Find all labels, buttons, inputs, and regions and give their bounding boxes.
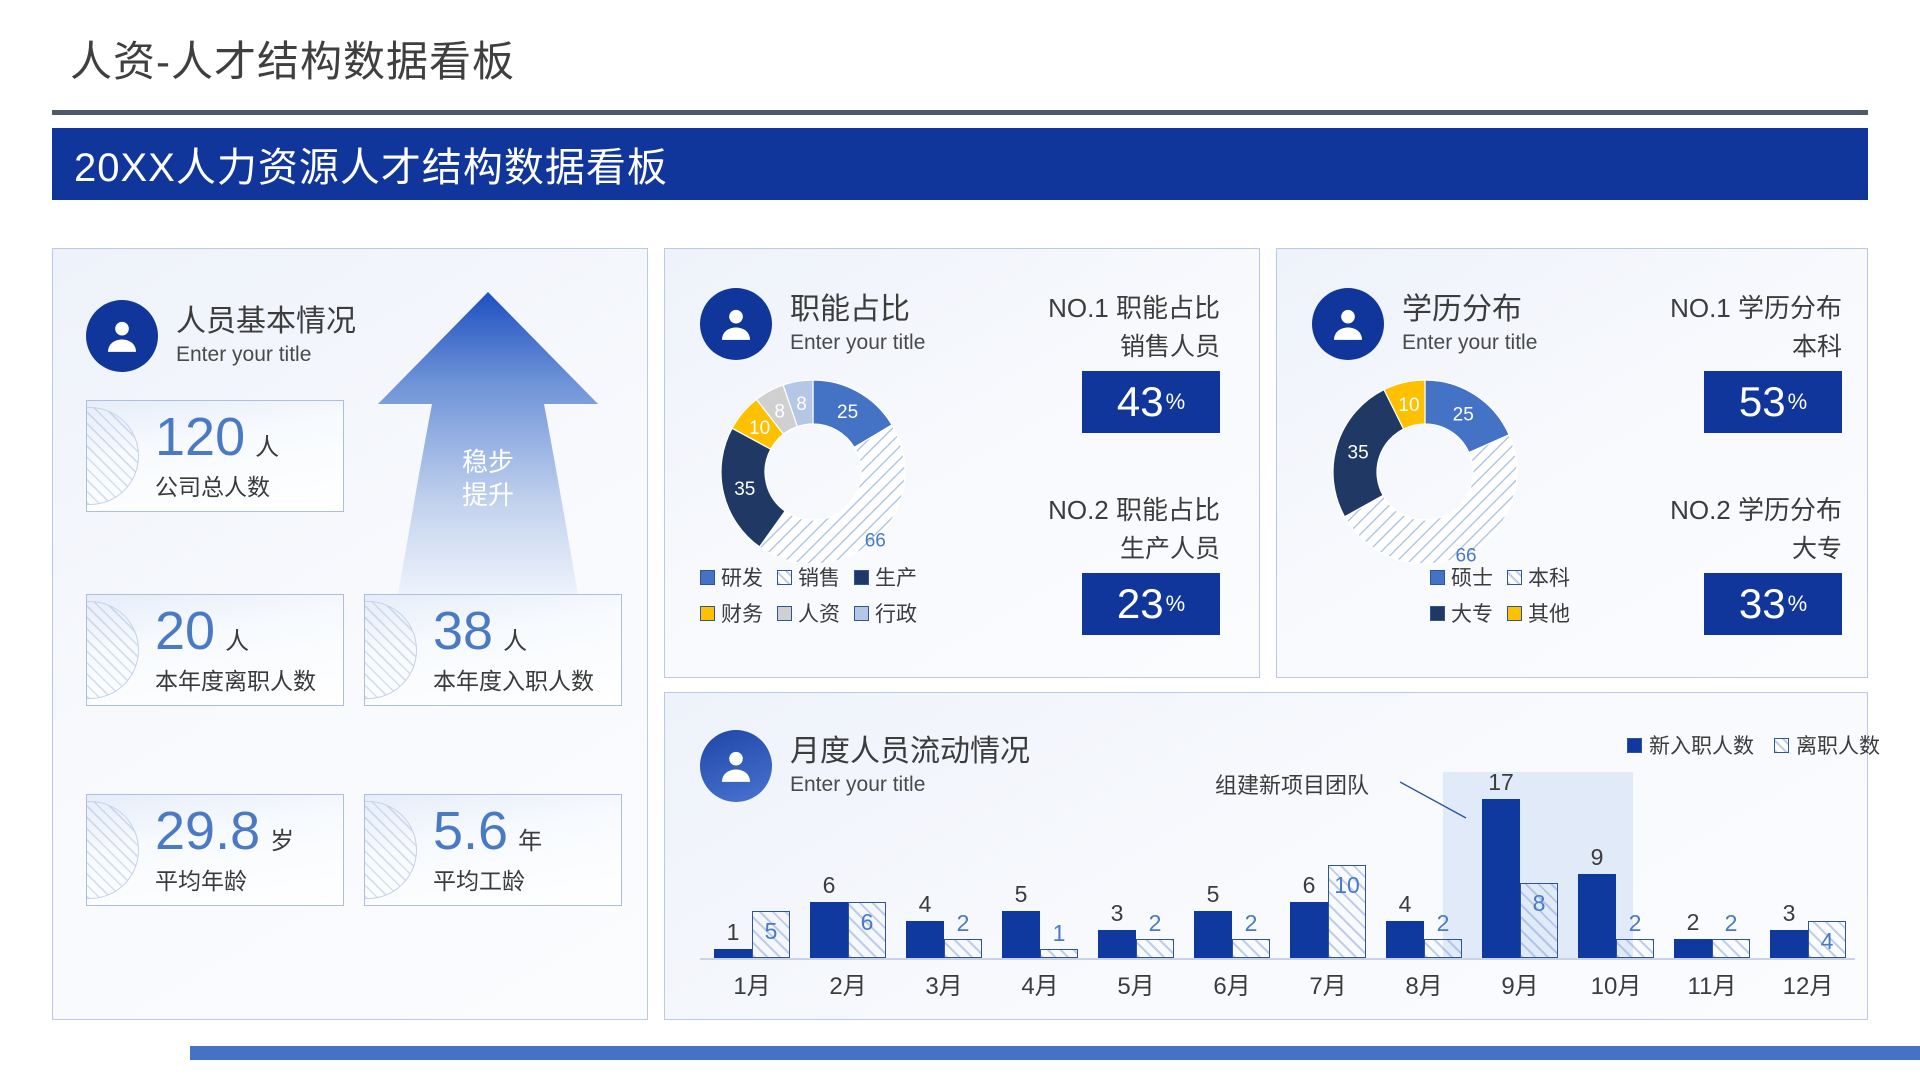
legend-item[interactable]: 生产 [854,562,917,592]
bar-value-label: 17 [1488,769,1514,796]
stat-value: 120 [155,410,245,464]
legend-item[interactable]: 硕士 [1430,562,1493,592]
bar-departures[interactable]: 2 [1424,939,1462,958]
legend-swatch-yanfa [700,570,715,585]
stat-label: 公司总人数 [155,468,279,502]
section-title-en: Enter your title [790,330,925,355]
month-tick-label: 1月 [710,966,794,1001]
donut-value-label: 25 [1453,404,1474,425]
month-tick-label: 2月 [806,966,890,1001]
legend-swatch-xingzheng [854,606,869,621]
bar-value-label: 2 [1687,909,1700,936]
legend-item[interactable]: 大专 [1430,598,1493,628]
legend-label: 大专 [1451,598,1493,628]
bar-departures[interactable]: 1 [1040,949,1078,958]
decor-half-circle [86,601,139,699]
monthly-flow-bars: 15664251325261042178922234 [710,760,1850,958]
stat-unit: 人 [255,427,279,462]
bar-value-label: 2 [957,910,970,937]
bar-new-hires[interactable]: 17 [1482,799,1520,958]
rank-badge: 33 % [1704,573,1842,635]
bar-new-hires[interactable]: 5 [1194,911,1232,958]
month-bar-group: 15 [710,760,794,958]
rank-percent-sign: % [1788,591,1808,617]
rank-badge: 43 % [1082,371,1220,433]
stat-value: 20 [155,604,215,658]
legend-label: 新入职人数 [1649,730,1754,760]
education-legend: 硕士 本科 大专 其他 [1430,562,1660,634]
rank-percent-sign: % [1788,389,1808,415]
legend-item[interactable]: 离职人数 [1774,730,1880,760]
legend-item[interactable]: 研发 [700,562,763,592]
legend-item[interactable]: 销售 [777,562,840,592]
bar-new-hires[interactable]: 5 [1002,911,1040,958]
bar-value-label: 5 [1015,881,1028,908]
stat-unit: 岁 [270,821,294,856]
decor-half-circle [86,801,139,899]
month-tick-label: 9月 [1478,966,1562,1001]
bar-value-label: 1 [1053,920,1066,947]
month-bar-group: 32 [1094,760,1178,958]
bar-departures[interactable]: 2 [1232,939,1270,958]
legend-item[interactable]: 财务 [700,598,763,628]
section-head-basic: 人员基本情况 Enter your title [86,300,356,372]
bar-departures[interactable]: 2 [1136,939,1174,958]
stat-label: 本年度离职人数 [155,662,316,696]
stat-value: 29.8 [155,804,260,858]
rank-badge: 23 % [1082,573,1220,635]
bar-value-label: 2 [1245,910,1258,937]
person-icon [1312,288,1384,360]
donut-value-label: 8 [774,401,785,422]
section-head-function: 职能占比 Enter your title [700,288,925,360]
education-donut-chart: 25663510 [1318,372,1532,572]
legend-item[interactable]: 新入职人数 [1627,730,1754,760]
rank-percent: 53 [1739,381,1786,423]
banner: 20XX人力资源人才结构数据看板 [52,128,1868,200]
legend-swatch-shuoshi [1430,570,1445,585]
month-tick-label: 6月 [1190,966,1274,1001]
footer-bar [190,1046,1920,1060]
function-rank-2: NO.2 职能占比 生产人员 23 % [1010,490,1220,635]
stat-unit: 年 [518,821,542,856]
month-bar-group: 610 [1286,760,1370,958]
bar-value-label: 2 [1149,910,1162,937]
bar-value-label: 3 [1783,900,1796,927]
rank-percent: 43 [1117,381,1164,423]
section-title-cn: 学历分布 [1402,293,1537,327]
decor-half-circle [364,601,417,699]
rank-percent: 33 [1739,583,1786,625]
stat-value: 5.6 [433,804,508,858]
month-bar-group: 34 [1766,760,1850,958]
bar-value-label: 2 [1629,910,1642,937]
stat-unit: 人 [503,621,527,656]
rank-badge: 53 % [1704,371,1842,433]
month-tick-label: 12月 [1766,966,1850,1001]
decor-half-circle [364,801,417,899]
bar-value-label: 6 [861,909,874,936]
month-tick-label: 10月 [1574,966,1658,1001]
bar-departures[interactable]: 4 [1808,921,1846,958]
month-bar-group: 22 [1670,760,1754,958]
legend-item[interactable]: 行政 [854,598,917,628]
bar-departures[interactable]: 5 [752,911,790,958]
chart-axis-line [700,958,1855,960]
legend-swatch-qita [1507,606,1522,621]
legend-swatch-benke [1507,570,1522,585]
donut-value-label: 66 [865,531,886,552]
rank-subject: 本科 [1630,327,1842,363]
bar-value-label: 4 [1821,928,1834,955]
function-donut-chart: 2566351088 [706,372,920,572]
legend-swatch-dazhuan [1430,606,1445,621]
legend-label: 销售 [798,562,840,592]
bar-new-hires[interactable]: 4 [1386,921,1424,958]
month-tick-label: 8月 [1382,966,1466,1001]
bar-new-hires[interactable]: 4 [906,921,944,958]
month-bar-group: 66 [806,760,890,958]
flow-legend: 新入职人数 离职人数 [1627,730,1880,760]
stat-label: 平均年龄 [155,862,294,896]
month-bar-group: 51 [998,760,1082,958]
rank-subject: 销售人员 [1010,327,1220,363]
rank-title: NO.2 职能占比 [1010,490,1220,527]
legend-label: 行政 [875,598,917,628]
banner-title: 20XX人力资源人才结构数据看板 [52,135,668,193]
stat-unit: 人 [225,621,249,656]
month-tick-label: 11月 [1670,966,1754,1001]
legend-label: 财务 [721,598,763,628]
bar-new-hires[interactable]: 6 [1290,902,1328,958]
education-rank-2: NO.2 学历分布 大专 33 % [1630,490,1842,635]
legend-swatch-shengchan [854,570,869,585]
rank-percent: 23 [1117,583,1164,625]
person-icon [86,300,158,372]
growth-arrow-graphic: 稳步 提升 [372,288,604,598]
bar-value-label: 4 [919,891,932,918]
function-legend: 研发 销售 生产 财务 人资 行政 [700,562,950,634]
donut-value-label: 25 [837,402,858,423]
section-title-cn: 职能占比 [790,293,925,327]
bar-new-hires[interactable]: 1 [714,949,752,958]
bar-departures[interactable]: 10 [1328,865,1366,958]
bar-departures[interactable]: 6 [848,902,886,958]
bar-value-label: 10 [1334,872,1360,899]
month-axis-labels: 1月2月3月4月5月6月7月8月9月10月11月12月 [710,966,1850,1001]
legend-label: 研发 [721,562,763,592]
legend-item[interactable]: 人资 [777,598,840,628]
legend-item[interactable]: 本科 [1507,562,1570,592]
legend-label: 硕士 [1451,562,1493,592]
stat-card-average-tenure: 5.6 年 平均工龄 [364,794,622,906]
month-bar-group: 52 [1190,760,1274,958]
legend-item[interactable]: 其他 [1507,598,1570,628]
month-bar-group: 178 [1478,760,1562,958]
rank-percent-sign: % [1166,591,1186,617]
bar-value-label: 6 [1303,872,1316,899]
stat-value: 38 [433,604,493,658]
section-title-en: Enter your title [176,342,356,367]
donut-value-label: 10 [749,418,770,439]
dashboard-page: 人资-人才结构数据看板 20XX人力资源人才结构数据看板 人员基本情况 Ente… [0,0,1920,1080]
legend-swatch-caiwu [700,606,715,621]
rank-title: NO.2 学历分布 [1630,490,1842,527]
bar-value-label: 8 [1533,890,1546,917]
month-tick-label: 7月 [1286,966,1370,1001]
legend-label: 离职人数 [1796,730,1880,760]
legend-swatch-departures [1774,738,1789,753]
bar-value-label: 4 [1399,891,1412,918]
bar-new-hires[interactable]: 9 [1578,874,1616,958]
stat-label: 本年度入职人数 [433,662,594,696]
header-divider [52,110,1868,115]
donut-value-label: 35 [1348,442,1369,463]
legend-swatch-renzi [777,606,792,621]
bar-value-label: 9 [1591,844,1604,871]
stat-card-total-headcount: 120 人 公司总人数 [86,400,344,512]
month-tick-label: 3月 [902,966,986,1001]
section-title-en: Enter your title [1402,330,1537,355]
donut-value-label: 8 [796,394,807,415]
legend-swatch-new-hires [1627,738,1642,753]
legend-label: 本科 [1528,562,1570,592]
function-rank-1: NO.1 职能占比 销售人员 43 % [1010,288,1220,433]
donut-value-label: 10 [1398,395,1419,416]
month-tick-label: 5月 [1094,966,1178,1001]
bar-new-hires[interactable]: 6 [810,902,848,958]
donut-value-label: 35 [734,479,755,500]
section-head-education: 学历分布 Enter your title [1312,288,1537,360]
bar-departures[interactable]: 8 [1520,883,1558,958]
bar-value-label: 2 [1725,910,1738,937]
section-title-cn: 人员基本情况 [176,305,356,339]
bar-new-hires[interactable]: 3 [1770,930,1808,958]
stat-card-average-age: 29.8 岁 平均年龄 [86,794,344,906]
legend-label: 生产 [875,562,917,592]
person-icon [700,288,772,360]
bar-departures[interactable]: 2 [1712,939,1750,958]
bar-value-label: 3 [1111,900,1124,927]
bar-value-label: 5 [765,918,778,945]
stat-card-resigned: 20 人 本年度离职人数 [86,594,344,706]
bar-new-hires[interactable]: 3 [1098,930,1136,958]
month-tick-label: 4月 [998,966,1082,1001]
page-title: 人资-人才结构数据看板 [70,28,515,89]
rank-subject: 生产人员 [1010,529,1220,565]
bar-departures[interactable]: 2 [1616,939,1654,958]
bar-value-label: 1 [727,919,740,946]
bar-value-label: 5 [1207,881,1220,908]
legend-label: 人资 [798,598,840,628]
bar-new-hires[interactable]: 2 [1674,939,1712,958]
bar-value-label: 6 [823,872,836,899]
month-bar-group: 92 [1574,760,1658,958]
legend-label: 其他 [1528,598,1570,628]
education-rank-1: NO.1 学历分布 本科 53 % [1630,288,1842,433]
stat-label: 平均工龄 [433,862,542,896]
stat-card-onboarded: 38 人 本年度入职人数 [364,594,622,706]
month-bar-group: 42 [1382,760,1466,958]
bar-value-label: 2 [1437,910,1450,937]
month-bar-group: 42 [902,760,986,958]
rank-subject: 大专 [1630,529,1842,565]
rank-percent-sign: % [1166,389,1186,415]
legend-swatch-xiaoshou [777,570,792,585]
bar-departures[interactable]: 2 [944,939,982,958]
decor-half-circle [86,407,139,505]
rank-title: NO.1 职能占比 [1010,288,1220,325]
rank-title: NO.1 学历分布 [1630,288,1842,325]
